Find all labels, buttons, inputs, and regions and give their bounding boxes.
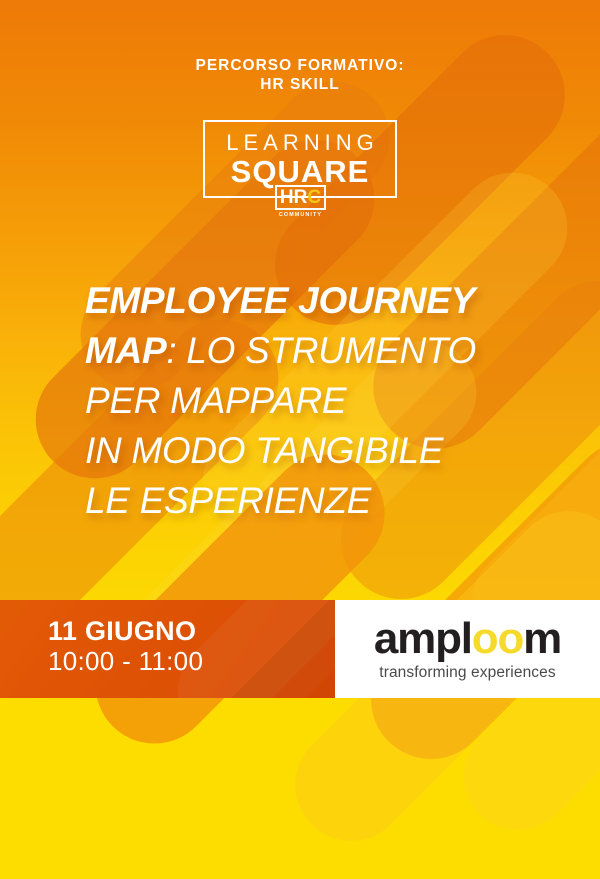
headline-line-4: IN MODO TANGIBILE	[85, 426, 595, 476]
headline-line-3: PER MAPPARE	[85, 376, 595, 426]
page-title: EMPLOYEE JOURNEY MAP: LO STRUMENTO PER M…	[85, 276, 595, 526]
headline-line-5: LE ESPERIENZE	[85, 476, 595, 526]
eyebrow-line-2: HR SKILL	[0, 75, 600, 94]
event-time: 10:00 - 11:00	[48, 646, 203, 677]
poster-canvas: PERCORSO FORMATIVO: HR SKILL LEARNING SQ…	[0, 0, 600, 879]
hrc-mark: HRC	[275, 185, 326, 210]
sponsor-logo-panel: amploom transforming experiences	[335, 600, 600, 698]
headline-line-1: EMPLOYEE JOURNEY	[85, 276, 595, 326]
hrc-letters-hr: HR	[280, 187, 307, 208]
logo-word-learning: LEARNING	[205, 130, 395, 156]
hrc-letter-c: C	[307, 187, 321, 208]
hrc-community-badge: HRC COMMUNITY	[274, 185, 327, 225]
headline-line-2: MAP: LO STRUMENTO	[85, 326, 595, 376]
amploom-part-oo: oo	[472, 614, 523, 663]
headline-line-1-text: EMPLOYEE JOURNEY	[85, 280, 475, 321]
amploom-part-3: m	[523, 614, 561, 663]
event-date-bar: 11 GIUGNO 10:00 - 11:00	[0, 600, 335, 698]
hrc-subtitle: COMMUNITY	[274, 212, 327, 218]
eyebrow-heading: PERCORSO FORMATIVO: HR SKILL	[0, 56, 600, 95]
headline-line-2-bold: MAP	[85, 330, 166, 371]
amploom-wordmark: amploom	[374, 617, 561, 661]
amploom-tagline: transforming experiences	[379, 664, 555, 682]
amploom-part-1: ampl	[374, 614, 472, 663]
event-details: 11 GIUGNO 10:00 - 11:00	[48, 616, 203, 677]
headline-line-2-rest: : LO STRUMENTO	[166, 330, 476, 371]
eyebrow-line-1: PERCORSO FORMATIVO:	[195, 57, 404, 74]
event-date: 11 GIUGNO	[48, 616, 203, 646]
